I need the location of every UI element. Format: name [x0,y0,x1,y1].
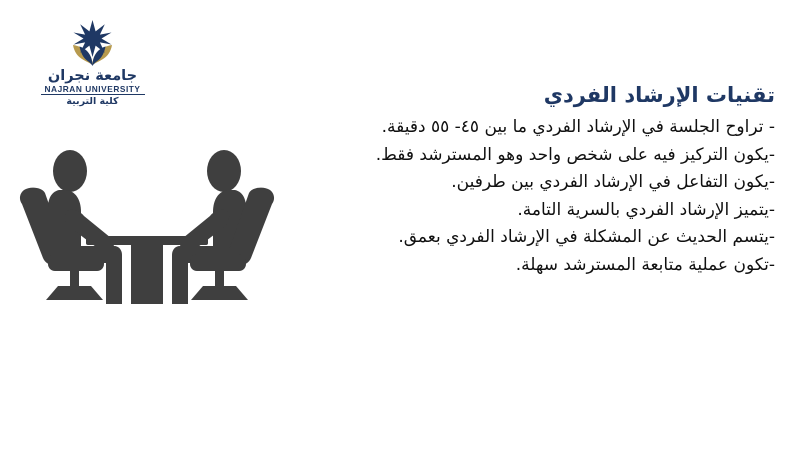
logo-arabic-name: جامعة نجران [30,69,155,84]
list-item: -يتسم الحديث عن المشكلة في الإرشاد الفرد… [255,224,775,252]
logo-english-name: NAJRAN UNIVERSITY [30,85,155,93]
slide-canvas: جامعة نجران NAJRAN UNIVERSITY كلية الترب… [0,0,797,449]
bullet-list: - تراوح الجلسة في الإرشاد الفردي ما بين … [255,114,775,279]
person-right [172,150,246,304]
content-column: تقنيات الإرشاد الفردي - تراوح الجلسة في … [255,82,775,279]
university-logo: جامعة نجران NAJRAN UNIVERSITY كلية الترب… [30,18,155,110]
person-left [48,150,122,304]
logo-emblem [30,18,155,68]
list-item: - تراوح الجلسة في الإرشاد الفردي ما بين … [255,114,775,142]
list-item: -يكون التركيز فيه على شخص واحد وهو المست… [255,142,775,170]
two-people-at-table-illustration [18,128,276,320]
list-item: -يتميز الإرشاد الفردي بالسرية التامة. [255,197,775,225]
logo-college-name: كلية التربية [30,97,155,107]
page-title: تقنيات الإرشاد الفردي [255,82,775,108]
list-item: -يكون التفاعل في الإرشاد الفردي بين طرفي… [255,169,775,197]
list-item: -تكون عملية متابعة المسترشد سهلة. [255,252,775,280]
